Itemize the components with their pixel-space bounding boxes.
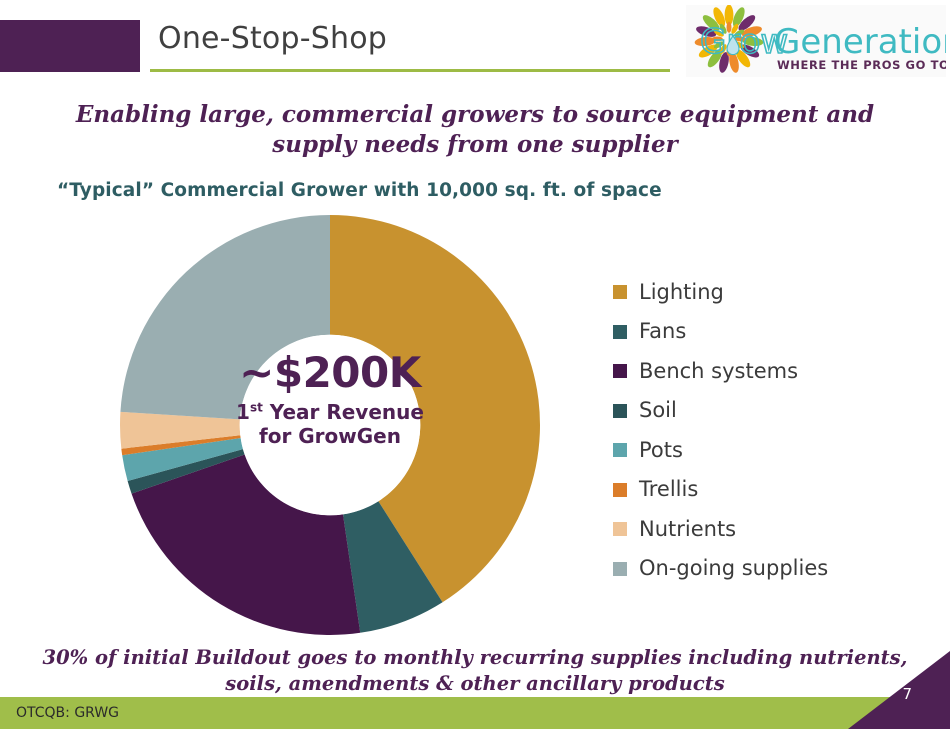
chart-legend: LightingFansBench systemsSoilPotsTrellis… [613, 281, 828, 597]
legend-label: Fans [639, 321, 686, 342]
legend-swatch-icon [613, 483, 627, 497]
bottom-note: 30% of initial Buildout goes to monthly … [35, 645, 915, 697]
legend-label: Pots [639, 440, 683, 461]
chart-caption: “Typical” Commercial Grower with 10,000 … [57, 180, 662, 201]
legend-item[interactable]: Pots [613, 439, 828, 461]
donut-hole [240, 335, 421, 516]
header-divider [150, 69, 670, 72]
donut-chart-svg [118, 213, 542, 637]
header-accent-block [0, 20, 140, 72]
legend-item[interactable]: Soil [613, 400, 828, 422]
legend-item[interactable]: Trellis [613, 479, 828, 501]
legend-swatch-icon [613, 522, 627, 536]
legend-item[interactable]: Lighting [613, 281, 828, 303]
legend-label: On-going supplies [639, 558, 828, 579]
legend-swatch-icon [613, 562, 627, 576]
footer-triangle-shape [848, 651, 950, 729]
logo-artwork: Grow Generation WHERE THE PROS GO TO GRO… [686, 5, 946, 77]
donut-chart [118, 213, 542, 637]
legend-label: Nutrients [639, 519, 736, 540]
page-title: One-Stop-Shop [158, 21, 387, 56]
page-number: 7 [902, 685, 912, 703]
growgeneration-logo: Grow Generation WHERE THE PROS GO TO GRO… [686, 5, 946, 77]
footer-triangle [790, 651, 950, 729]
legend-item[interactable]: Fans [613, 321, 828, 343]
legend-label: Bench systems [639, 361, 798, 382]
legend-swatch-icon [613, 443, 627, 457]
legend-swatch-icon [613, 404, 627, 418]
legend-swatch-icon [613, 325, 627, 339]
slide-subtitle: Enabling large, commercial growers to so… [60, 100, 890, 161]
legend-label: Trellis [639, 479, 698, 500]
footer-ticker: OTCQB: GRWG [16, 705, 119, 721]
legend-item[interactable]: Bench systems [613, 360, 828, 382]
slide: One-Stop-Shop [0, 0, 950, 729]
legend-swatch-icon [613, 364, 627, 378]
legend-label: Soil [639, 400, 677, 421]
logo-tagline: WHERE THE PROS GO TO GROW [777, 58, 946, 72]
legend-label: Lighting [639, 282, 724, 303]
legend-item[interactable]: On-going supplies [613, 558, 828, 580]
logo-word-generation: Generation [774, 22, 946, 62]
legend-swatch-icon [613, 285, 627, 299]
legend-item[interactable]: Nutrients [613, 518, 828, 540]
